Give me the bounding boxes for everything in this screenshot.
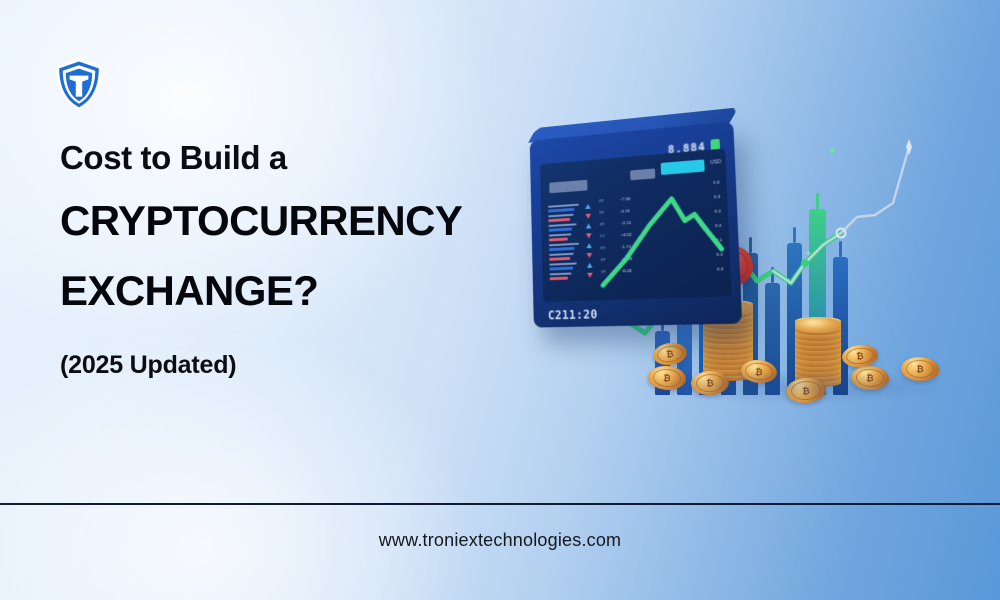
- sparkle-icon: ✦: [827, 145, 837, 157]
- screen-pill: [549, 180, 587, 193]
- asset-row-bar: [548, 208, 574, 212]
- headline-block: Cost to Build a CRYPTOCURRENCY EXCHANGE?…: [60, 140, 530, 380]
- asset-row-bar: [548, 218, 570, 222]
- ticker-value: -0.25: [622, 268, 632, 273]
- device-screen: USD +7.58##-4.16##+2.31##+9.02##-1.74##+…: [540, 148, 732, 301]
- axis-label: 0.3: [717, 266, 724, 271]
- asset-row-bar: [549, 267, 572, 270]
- device-timecode: C211:20: [548, 307, 598, 322]
- trend-arrow-icon: [587, 263, 593, 268]
- sparkle-icon: ✦: [805, 250, 812, 258]
- headline-line-1: Cost to Build a: [60, 140, 530, 176]
- coin-stack-top: [795, 317, 841, 333]
- footer-divider: [0, 503, 1000, 505]
- headline-subtitle: (2025 Updated): [60, 351, 530, 380]
- trend-arrow-icon: [586, 223, 592, 228]
- screen-line-chart: [595, 166, 732, 300]
- footer-website-url[interactable]: www.troniextechnologies.com: [0, 530, 1000, 551]
- hero-banner: Cost to Build a CRYPTOCURRENCY EXCHANGE?…: [0, 0, 1000, 600]
- screen-ticker-column: +7.58##-4.16##+2.31##+9.02##-1.74##+5.65…: [540, 148, 725, 164]
- asset-row-label: [548, 214, 573, 218]
- asset-row-bar: [549, 227, 573, 231]
- axis-label: 0.3: [714, 194, 721, 200]
- bitcoin-coin: ₿: [652, 341, 689, 368]
- axis-label: 0.2: [715, 223, 722, 229]
- headline-line-3: EXCHANGE?: [60, 268, 530, 313]
- asset-row-bar: [549, 247, 574, 251]
- asset-row-label: [548, 223, 576, 227]
- axis-label: 0.4: [716, 252, 723, 257]
- asset-row-bar: [550, 277, 569, 280]
- trend-arrow-icon: [587, 273, 593, 278]
- headline-line-2: CRYPTOCURRENCY: [60, 198, 530, 243]
- device-readout: 8.884: [668, 139, 721, 157]
- asset-row-bar: [549, 257, 570, 260]
- axis-label: 0.0: [713, 180, 720, 186]
- trend-arrow-icon: [587, 253, 593, 258]
- asset-row-label: [550, 273, 572, 276]
- device-body: 8.884 USD +7.58##-4.16##+2.31##+9.02##-1…: [530, 121, 743, 327]
- axis-label: 0.1: [716, 237, 723, 243]
- asset-row-label: [548, 204, 579, 208]
- ground-shadow: [640, 370, 950, 404]
- trend-arrow-icon: [586, 233, 592, 238]
- screen-asset-rows: [540, 148, 725, 164]
- asset-row-bar: [549, 237, 568, 240]
- trading-terminal-device: 8.884 USD +7.58##-4.16##+2.31##+9.02##-1…: [530, 121, 743, 327]
- asset-row-label: [549, 253, 574, 256]
- axis-label: 0.4: [714, 208, 721, 214]
- screen-pill-active[interactable]: [661, 159, 705, 175]
- bitcoin-coin: ₿: [841, 343, 879, 369]
- readout-value: 8.884: [668, 140, 706, 156]
- crypto-exchange-illustration: ✦ ✦ ✦ ₿₿₿₿₿₿₿₿ ✳ 8.884: [505, 95, 975, 415]
- asset-row-label: [549, 243, 579, 247]
- status-chip: [710, 139, 720, 153]
- asset-row-label: [549, 262, 576, 265]
- trend-arrow-icon: [586, 243, 592, 248]
- trend-arrow-icon: [585, 214, 591, 219]
- shield-t-logo-icon[interactable]: [52, 56, 106, 112]
- screen-axis-labels: 0.00.30.40.20.10.40.3: [540, 148, 725, 164]
- asset-row-label: [549, 233, 572, 236]
- trend-arrow-icon: [585, 204, 591, 209]
